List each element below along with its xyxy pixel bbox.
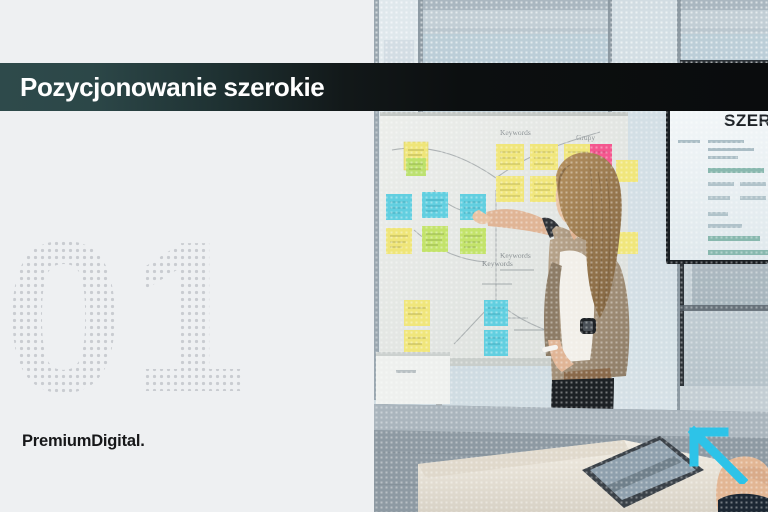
title-banner: Pozycjonowanie szerokie: [0, 63, 768, 111]
watermark-number: 01: [4, 212, 272, 422]
svg-text:Keywords: Keywords: [482, 259, 513, 268]
brand-logo: PremiumDigital.: [22, 432, 145, 451]
board-label-grupy: Grupy: [576, 133, 595, 142]
page-title: Pozycjonowanie szerokie: [20, 72, 324, 103]
sticky-note-group: [404, 142, 428, 176]
diagonal-arrow-up-left-icon: [688, 422, 748, 484]
board-label-keywords: Keywords: [500, 128, 531, 137]
slide-canvas: 01 PremiumDigital.: [0, 0, 768, 512]
screen-heading: SZEROKI: [724, 111, 768, 130]
